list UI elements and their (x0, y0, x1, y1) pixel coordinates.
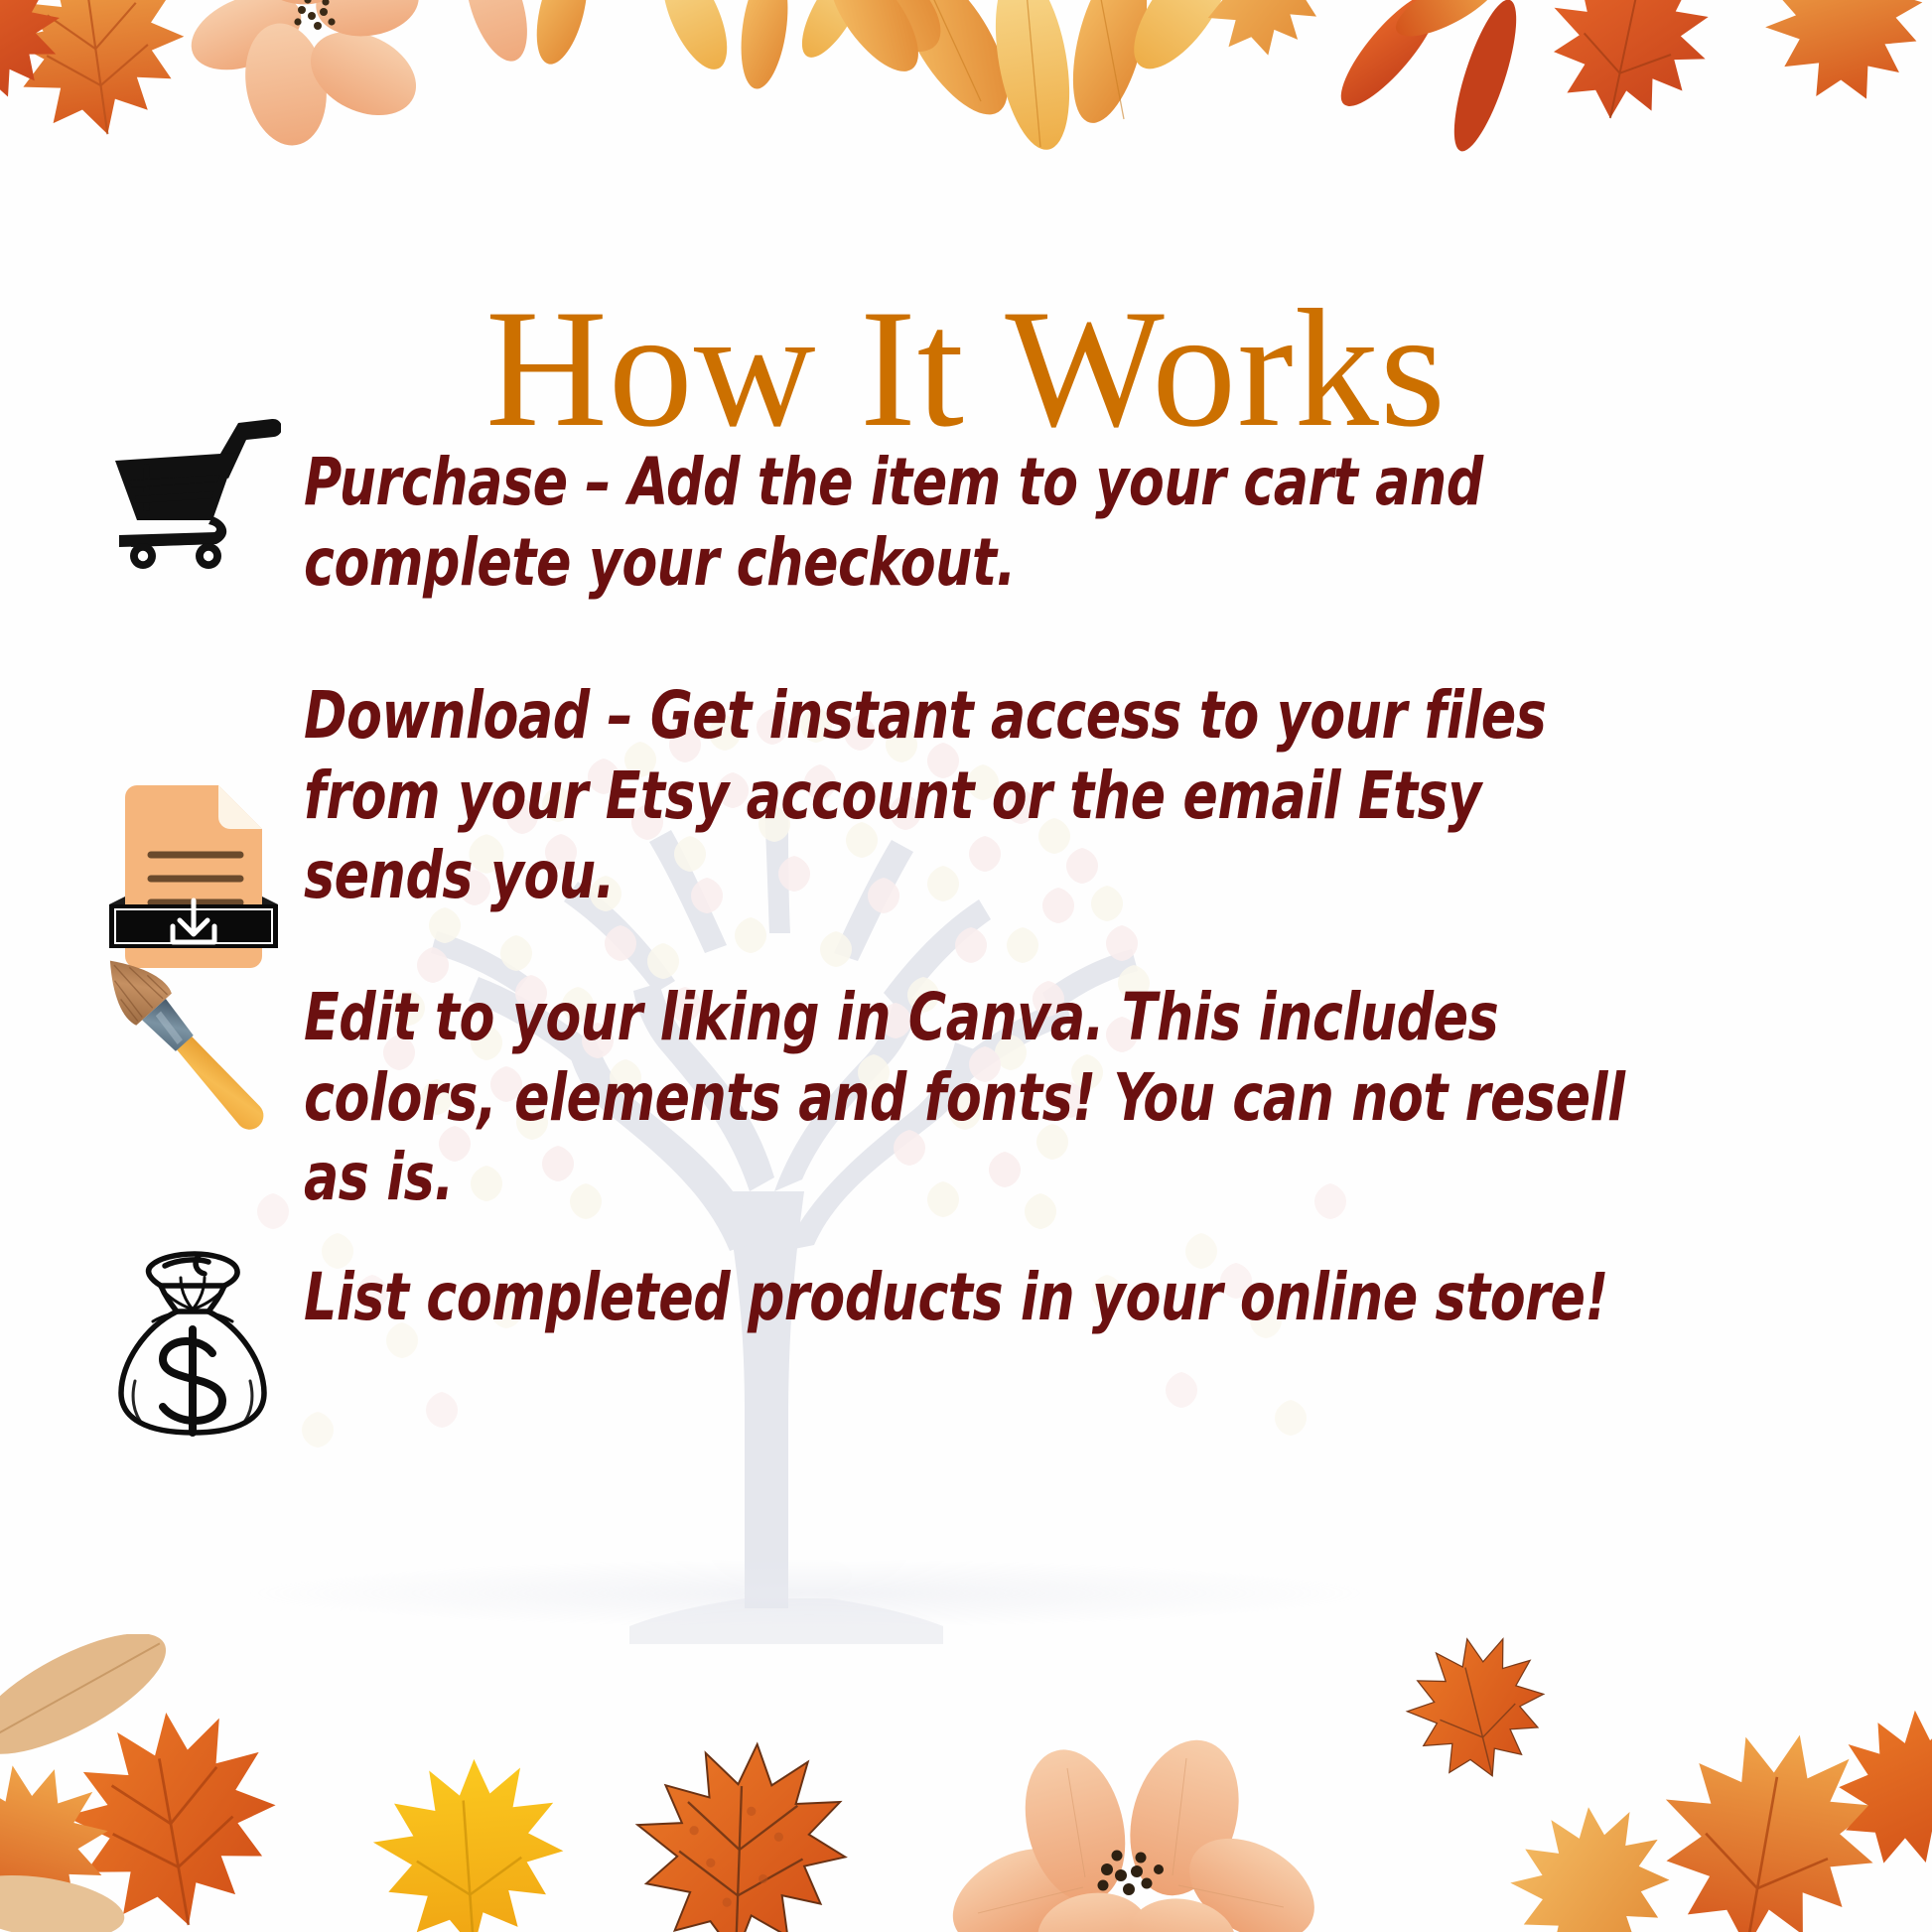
step-edit-icon-slot (95, 972, 304, 1121)
step-edit: Edit to your liking in Canva. This inclu… (95, 972, 1843, 1218)
step-download-icon-slot (95, 670, 304, 938)
flower (180, 0, 430, 152)
steps-list: Purchase – Add the item to your cart and… (95, 437, 1843, 1502)
poster-canvas: How It Works (0, 0, 1932, 1932)
step-list-text: List completed products in your online s… (304, 1252, 1658, 1338)
step-list: List completed products in your online s… (95, 1252, 1843, 1450)
top-decorative-border (0, 0, 1932, 228)
tree-shadow (238, 1559, 1380, 1628)
step-download-text: Download – Get instant access to your fi… (304, 670, 1658, 916)
money-bag-icon (105, 1242, 279, 1441)
maple-leaf (0, 0, 196, 146)
step-purchase-icon-slot (95, 437, 304, 611)
step-purchase-text: Purchase – Add the item to your cart and… (304, 437, 1658, 603)
step-edit-text: Edit to your liking in Canva. This inclu… (304, 972, 1658, 1218)
step-download: Download – Get instant access to your fi… (95, 670, 1843, 938)
step-purchase: Purchase – Add the item to your cart and… (95, 437, 1843, 611)
step-list-icon-slot (95, 1252, 304, 1450)
page-title: How It Works (0, 284, 1932, 453)
flower (936, 1727, 1332, 1932)
shopping-cart-icon (97, 405, 281, 569)
paintbrush-icon (93, 942, 292, 1156)
bottom-decorative-border (0, 1634, 1932, 1932)
